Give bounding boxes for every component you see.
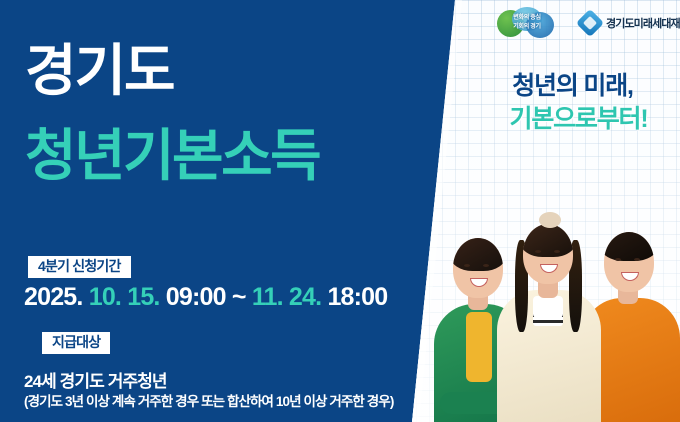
- right-headline-line1: 청년의 미래,: [470, 72, 675, 102]
- period-start-time: 09:00: [166, 283, 226, 311]
- person-right-eye-right: [634, 258, 640, 261]
- right-headline-line2: 기본으로부터!: [482, 104, 675, 134]
- person-right-head: [604, 232, 654, 292]
- target-description: 24세 경기도 거주청년: [24, 367, 167, 392]
- youth-photo: [430, 182, 680, 422]
- diamond-icon: [576, 8, 604, 36]
- period-end-time: 18:00: [327, 283, 387, 311]
- target-badge: 지급대상: [42, 332, 110, 354]
- person-left-smile: [470, 278, 488, 287]
- person-right-hair: [604, 232, 654, 261]
- promo-banner: 변화의 중심 기회의 경기 경기도미래세대재단 청년의 미래, 기본으로부터! …: [0, 0, 680, 422]
- right-headline: 청년의 미래, 기본으로부터!: [470, 72, 675, 134]
- gyeonggi-slogan: 변화의 중심 기회의 경기: [513, 14, 540, 30]
- person-center-collar: [533, 296, 563, 318]
- period-start-date: 10. 15.: [89, 283, 160, 311]
- period-end-date: 11. 24.: [252, 283, 321, 311]
- page-subtitle: 청년기본소득: [25, 128, 319, 184]
- gyeonggi-slogan-line1: 변화의 중심: [513, 14, 540, 22]
- person-center-eye-right: [554, 250, 560, 253]
- gyeonggi-slogan-line2: 기회의 경기: [513, 23, 540, 31]
- person-left-shirt: [466, 312, 492, 382]
- person-right-smile: [621, 272, 639, 281]
- person-left-eye-left: [464, 264, 470, 267]
- period-badge: 4분기 신청기간: [28, 256, 131, 278]
- gyeonggi-province-logo: 변화의 중심 기회의 경기: [496, 6, 558, 39]
- page-title: 경기도: [25, 43, 174, 99]
- person-right-eye-left: [615, 258, 621, 261]
- target-note: (경기도 3년 이상 계속 거주한 경우 또는 합산하여 10년 이상 거주한 …: [24, 390, 393, 410]
- person-center-head: [523, 224, 573, 284]
- person-left-eye-right: [483, 264, 489, 267]
- person-center-hair-bun: [539, 212, 561, 228]
- period-year: 2025.: [24, 283, 83, 311]
- person-center-hair: [523, 224, 573, 257]
- person-center-smile: [540, 264, 558, 273]
- left-content: 경기도 청년기본소득 4분기 신청기간 2025. 10. 15. 09:00 …: [0, 0, 430, 422]
- application-period: 2025. 10. 15. 09:00 ~ 11. 24. 18:00: [24, 283, 387, 312]
- foundation-logo: 경기도미래세대재단: [580, 13, 680, 33]
- foundation-name: 경기도미래세대재단: [606, 15, 680, 31]
- period-separator: ~: [232, 283, 246, 311]
- logo-row: 변화의 중심 기회의 경기 경기도미래세대재단: [496, 6, 680, 39]
- person-center-eye-left: [535, 250, 541, 253]
- person-center: [493, 204, 603, 422]
